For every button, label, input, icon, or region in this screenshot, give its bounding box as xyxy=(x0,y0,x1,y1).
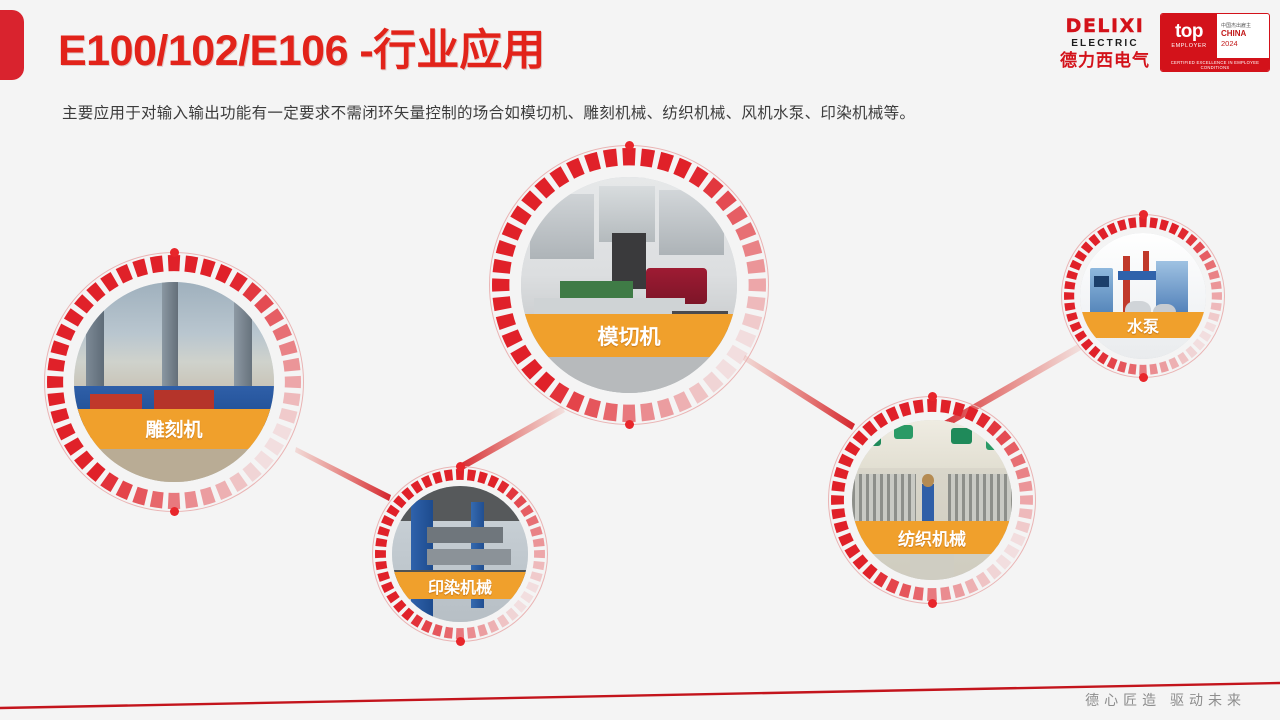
node-engraving[interactable]: 雕刻机 xyxy=(44,252,304,512)
ring-segment xyxy=(1020,495,1033,505)
ring-segment xyxy=(1159,361,1169,373)
node-waterpump[interactable]: 水泵 xyxy=(1061,214,1225,378)
ring-segment xyxy=(1128,364,1137,375)
ring-dot-bottom xyxy=(1139,373,1148,382)
ring-segment xyxy=(375,561,387,570)
ring-segment xyxy=(746,259,765,274)
ring-segment xyxy=(965,578,979,594)
photo-surface xyxy=(392,486,528,622)
node-printdye[interactable]: 印染机械 xyxy=(372,466,548,642)
ring-segment xyxy=(496,313,516,330)
ring-segment xyxy=(492,278,510,291)
ring-segment xyxy=(496,240,516,257)
ring-segment xyxy=(640,149,655,168)
ring-segment xyxy=(1064,281,1075,290)
ring-segment xyxy=(657,152,674,172)
ring-segment xyxy=(735,329,756,348)
photo-detail xyxy=(951,428,972,444)
ring-dot-top xyxy=(456,462,465,471)
ring-segment xyxy=(132,259,148,278)
node-diecutting[interactable]: 模切机 xyxy=(489,145,769,425)
ring-segment xyxy=(168,255,180,271)
ring-segment xyxy=(1066,270,1078,280)
ring-segment xyxy=(132,487,148,506)
ring-segment xyxy=(51,408,70,424)
ring-segment xyxy=(487,620,499,633)
ring-segment xyxy=(377,526,390,537)
ring-segment xyxy=(375,550,386,558)
footer-slogan: 德心匠造 驱动未来 xyxy=(1085,690,1246,710)
ring-segment xyxy=(502,329,523,348)
ring-segment xyxy=(1212,292,1222,300)
ring-segment xyxy=(1015,467,1030,479)
ring-segment xyxy=(899,402,911,417)
ring-segment xyxy=(953,402,965,417)
ring-segment xyxy=(622,148,635,166)
ring-segment xyxy=(566,158,585,179)
ring-segment xyxy=(48,358,66,372)
ring-segment xyxy=(1010,533,1026,547)
ring-segment xyxy=(533,538,545,547)
ring-segment xyxy=(603,149,618,168)
ring-segment xyxy=(913,586,924,600)
ring-segment xyxy=(748,278,766,291)
photo-detail xyxy=(922,474,933,487)
ring-segment xyxy=(283,392,301,406)
ring-segment xyxy=(493,296,512,311)
ring-segment xyxy=(1117,361,1127,373)
node-photo-textile: 纺织机械 xyxy=(852,420,1012,580)
ring-segment xyxy=(116,480,133,499)
ring-segment xyxy=(831,508,845,519)
ring-segment xyxy=(279,340,298,356)
ring-segment xyxy=(735,222,756,241)
ring-segment xyxy=(200,259,216,278)
ring-segment xyxy=(1018,508,1032,519)
ring-segment xyxy=(953,583,965,598)
photo-detail xyxy=(922,484,933,526)
ring-segment xyxy=(502,222,523,241)
photo-detail xyxy=(234,282,252,392)
ring-segment xyxy=(150,256,164,274)
photo-detail xyxy=(986,434,1005,450)
ring-segment xyxy=(444,469,453,481)
ring-segment xyxy=(742,313,762,330)
node-photo-waterpump: 水泵 xyxy=(1080,233,1206,359)
ring-segment xyxy=(493,259,512,274)
node-label-printdye: 印染机械 xyxy=(428,574,492,598)
ring-segment xyxy=(421,620,433,633)
photo-detail xyxy=(427,549,511,565)
ring-segment xyxy=(640,402,655,421)
ring-segment xyxy=(603,402,618,421)
node-label-band-diecutting: 模切机 xyxy=(521,314,737,357)
ring-segment xyxy=(432,624,443,637)
photo-detail xyxy=(894,425,913,439)
ring-segment xyxy=(56,324,75,341)
ring-segment xyxy=(1149,217,1158,228)
ring-segment xyxy=(526,581,539,593)
ring-segment xyxy=(272,423,291,440)
ring-segment xyxy=(116,264,133,283)
ring-segment xyxy=(534,550,545,558)
node-label-band-waterpump: 水泵 xyxy=(1080,312,1206,338)
node-label-diecutting: 模切机 xyxy=(597,321,660,351)
ring-segment xyxy=(1018,481,1032,492)
ring-dot-top xyxy=(928,392,937,401)
ring-segment xyxy=(285,376,301,388)
ring-segment xyxy=(746,296,765,311)
ring-segment xyxy=(584,398,601,418)
ring-segment xyxy=(1015,521,1030,533)
ring-segment xyxy=(432,471,443,484)
ring-dot-top xyxy=(625,141,634,150)
ring-segment xyxy=(584,152,601,172)
ring-segment xyxy=(375,538,387,547)
node-photo-diecutting: 模切机 xyxy=(521,177,737,393)
ring-segment xyxy=(150,491,164,509)
photo-surface xyxy=(74,282,274,482)
photo-surface xyxy=(1080,233,1206,359)
node-label-band-engraving: 雕刻机 xyxy=(74,409,274,449)
node-photo-printdye: 印染机械 xyxy=(392,486,528,622)
ring-segment xyxy=(673,158,692,179)
node-photo-engraving: 雕刻机 xyxy=(74,282,274,482)
ring-segment xyxy=(899,583,911,598)
ring-segment xyxy=(200,487,216,506)
ring-segment xyxy=(1149,364,1158,375)
ring-segment xyxy=(444,627,453,639)
ring-segment xyxy=(1211,281,1222,290)
ring-segment xyxy=(530,526,543,537)
ring-segment xyxy=(1159,219,1169,231)
ring-segment xyxy=(279,408,298,424)
ring-segment xyxy=(913,399,924,413)
photo-detail xyxy=(659,190,724,255)
node-label-band-textile: 纺织机械 xyxy=(852,521,1012,553)
ring-dot-bottom xyxy=(928,599,937,608)
ring-segment xyxy=(742,240,762,257)
ring-segment xyxy=(1066,312,1078,322)
ring-segment xyxy=(940,586,951,600)
ring-segment xyxy=(47,376,63,388)
ring-segment xyxy=(526,515,539,527)
ring-segment xyxy=(657,398,674,418)
ring-segment xyxy=(566,391,585,412)
ring-segment xyxy=(1064,292,1074,300)
ring-segment xyxy=(377,571,390,582)
ring-segment xyxy=(673,391,692,412)
ring-segment xyxy=(51,340,70,356)
node-textile[interactable]: 纺织机械 xyxy=(828,396,1036,604)
ring-segment xyxy=(56,423,75,440)
photo-detail xyxy=(427,527,503,543)
ring-segment xyxy=(1208,312,1220,322)
ring-segment xyxy=(831,495,844,505)
ring-segment xyxy=(467,627,476,639)
photo-detail xyxy=(530,194,595,259)
ring-segment xyxy=(272,324,291,341)
node-label-waterpump: 水泵 xyxy=(1127,313,1159,337)
photo-detail xyxy=(858,430,880,446)
photo-surface xyxy=(852,420,1012,580)
node-label-band-printdye: 印染机械 xyxy=(392,572,528,599)
ring-segment xyxy=(834,521,849,533)
ring-segment xyxy=(48,392,66,406)
ring-segment xyxy=(533,561,545,570)
ring-segment xyxy=(215,480,232,499)
ring-segment xyxy=(1128,217,1137,228)
node-label-engraving: 雕刻机 xyxy=(145,415,202,442)
ring-dot-bottom xyxy=(456,637,465,646)
ring-segment xyxy=(215,264,232,283)
photo-detail xyxy=(1094,276,1109,287)
ring-segment xyxy=(831,481,845,492)
ring-segment xyxy=(184,491,198,509)
ring-segment xyxy=(283,358,301,372)
ring-segment xyxy=(477,471,488,484)
ring-segment xyxy=(530,571,543,582)
slide-root: E100/102/E106 -行业应用 主要应用于对输入输出功能有一定要求不需闭… xyxy=(0,0,1280,720)
ring-segment xyxy=(1064,302,1075,311)
ring-segment xyxy=(477,624,488,637)
ring-segment xyxy=(940,399,951,413)
ring-dot-bottom xyxy=(170,507,179,516)
ring-segment xyxy=(886,578,900,594)
ring-segment xyxy=(834,467,849,479)
ring-dot-bottom xyxy=(625,420,634,429)
ring-segment xyxy=(1010,454,1026,468)
ring-segment xyxy=(467,469,476,481)
ring-segment xyxy=(1208,270,1220,280)
ring-dot-top xyxy=(170,248,179,257)
photo-surface xyxy=(521,177,737,393)
node-label-textile: 纺织机械 xyxy=(898,525,966,550)
ring-segment xyxy=(184,256,198,274)
ring-dot-top xyxy=(1139,210,1148,219)
ring-segment xyxy=(1211,302,1222,311)
photo-detail xyxy=(162,282,178,398)
ring-segment xyxy=(1117,219,1127,231)
